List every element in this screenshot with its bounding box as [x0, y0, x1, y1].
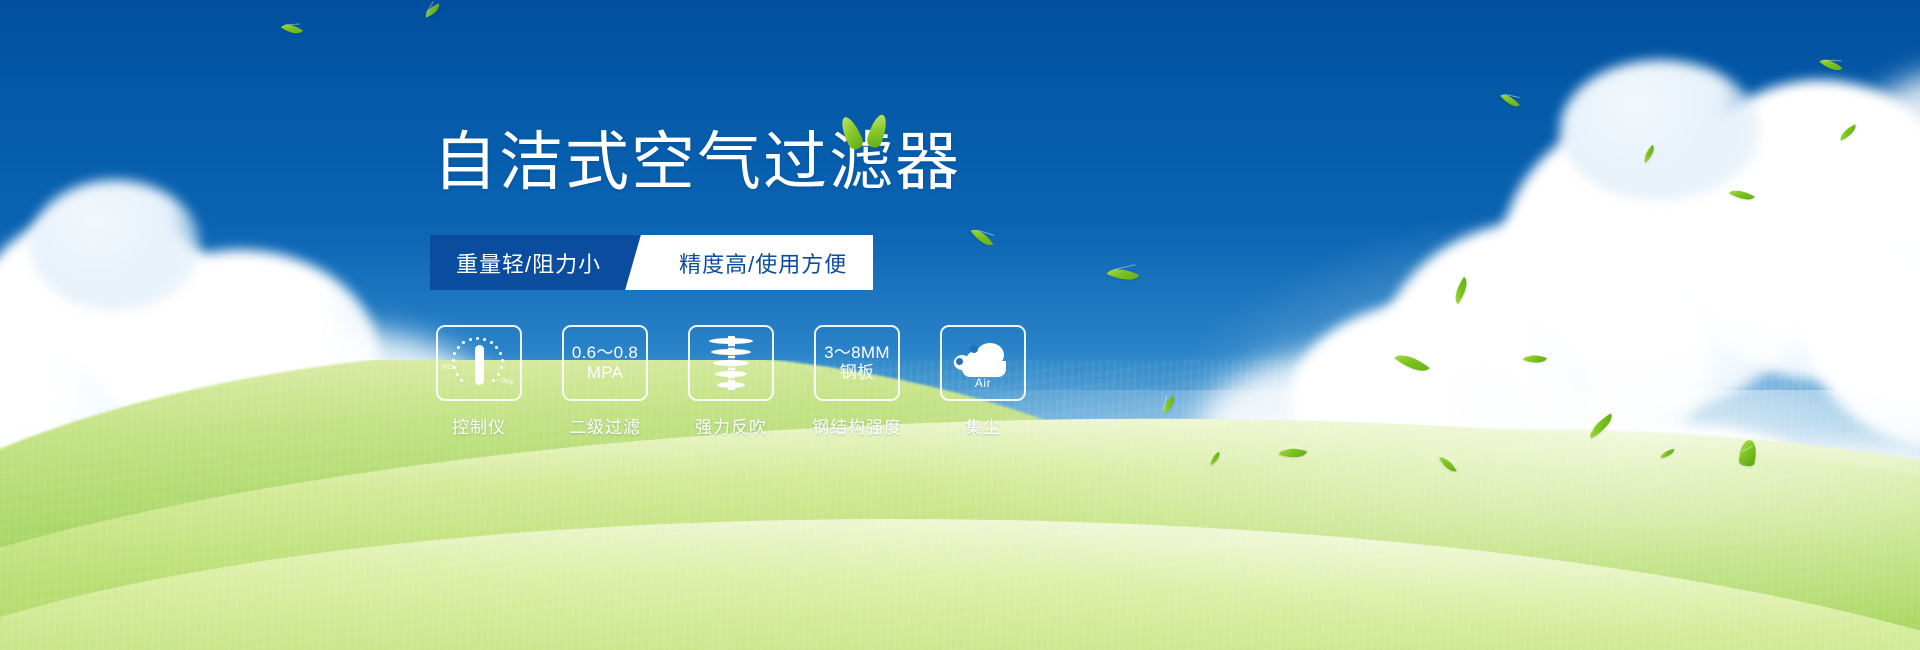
- hero-banner: 自洁式空气过滤器 重量轻/阻力小 精度高/使用方便: [0, 0, 1920, 650]
- feature-item-control[interactable]: NO OFF 控制仪: [435, 325, 523, 438]
- pressure-text-icon: 0.6～0.8 MPA: [572, 343, 638, 382]
- gauge-needle-icon: [475, 345, 484, 385]
- sprout-leaves-icon: [842, 112, 894, 146]
- feature-item-blowback[interactable]: 强力反吹: [687, 325, 775, 438]
- feature-caption: 钢结构强度: [812, 413, 902, 438]
- steel-line-1: 3～8MM: [824, 343, 890, 363]
- feature-caption: 控制仪: [452, 413, 506, 438]
- feature-icon-box: NO OFF: [436, 325, 522, 401]
- feature-icon-box: [688, 325, 774, 401]
- feature-item-steel[interactable]: 3～8MM 钢板 钢结构强度: [813, 325, 901, 438]
- tagline-badge-secondary[interactable]: 精度高/使用方便: [645, 235, 873, 290]
- tagline-badge-secondary-label: 精度高/使用方便: [679, 247, 847, 279]
- gauge-label-off: OFF: [499, 377, 515, 388]
- feature-list: NO OFF 控制仪 0.6～0.8 MPA 二级过滤: [435, 325, 1027, 438]
- feature-icon-box: 0.6～0.8 MPA: [562, 325, 648, 401]
- feature-caption: 强力反吹: [695, 413, 767, 438]
- air-label: Air: [952, 376, 1014, 390]
- feature-icon-box: Air: [940, 325, 1026, 401]
- gauge-label-no: NO: [443, 364, 454, 371]
- banner-content: 自洁式空气过滤器 重量轻/阻力小 精度高/使用方便: [0, 0, 1920, 650]
- tagline-badge-primary-label: 重量轻/阻力小: [456, 247, 601, 279]
- blowback-icon: [703, 334, 759, 392]
- feature-item-pressure[interactable]: 0.6～0.8 MPA 二级过滤: [561, 325, 649, 438]
- pressure-line-1: 0.6～0.8: [572, 343, 638, 363]
- steel-line-2: 钢板: [824, 363, 890, 383]
- tagline-badge-primary[interactable]: 重量轻/阻力小: [430, 235, 645, 290]
- leaf-right-icon: [865, 113, 890, 150]
- feature-icon-box: 3～8MM 钢板: [814, 325, 900, 401]
- steel-plate-text-icon: 3～8MM 钢板: [824, 343, 890, 382]
- tagline-badges: 重量轻/阻力小 精度高/使用方便: [430, 235, 873, 290]
- gauge-icon: NO OFF: [444, 333, 514, 393]
- feature-item-dust[interactable]: Air 集尘: [939, 325, 1027, 438]
- feature-caption: 二级过滤: [569, 413, 641, 438]
- feature-caption: 集尘: [965, 413, 1001, 438]
- pressure-line-2: MPA: [572, 363, 638, 383]
- air-cloud-icon: Air: [952, 337, 1014, 389]
